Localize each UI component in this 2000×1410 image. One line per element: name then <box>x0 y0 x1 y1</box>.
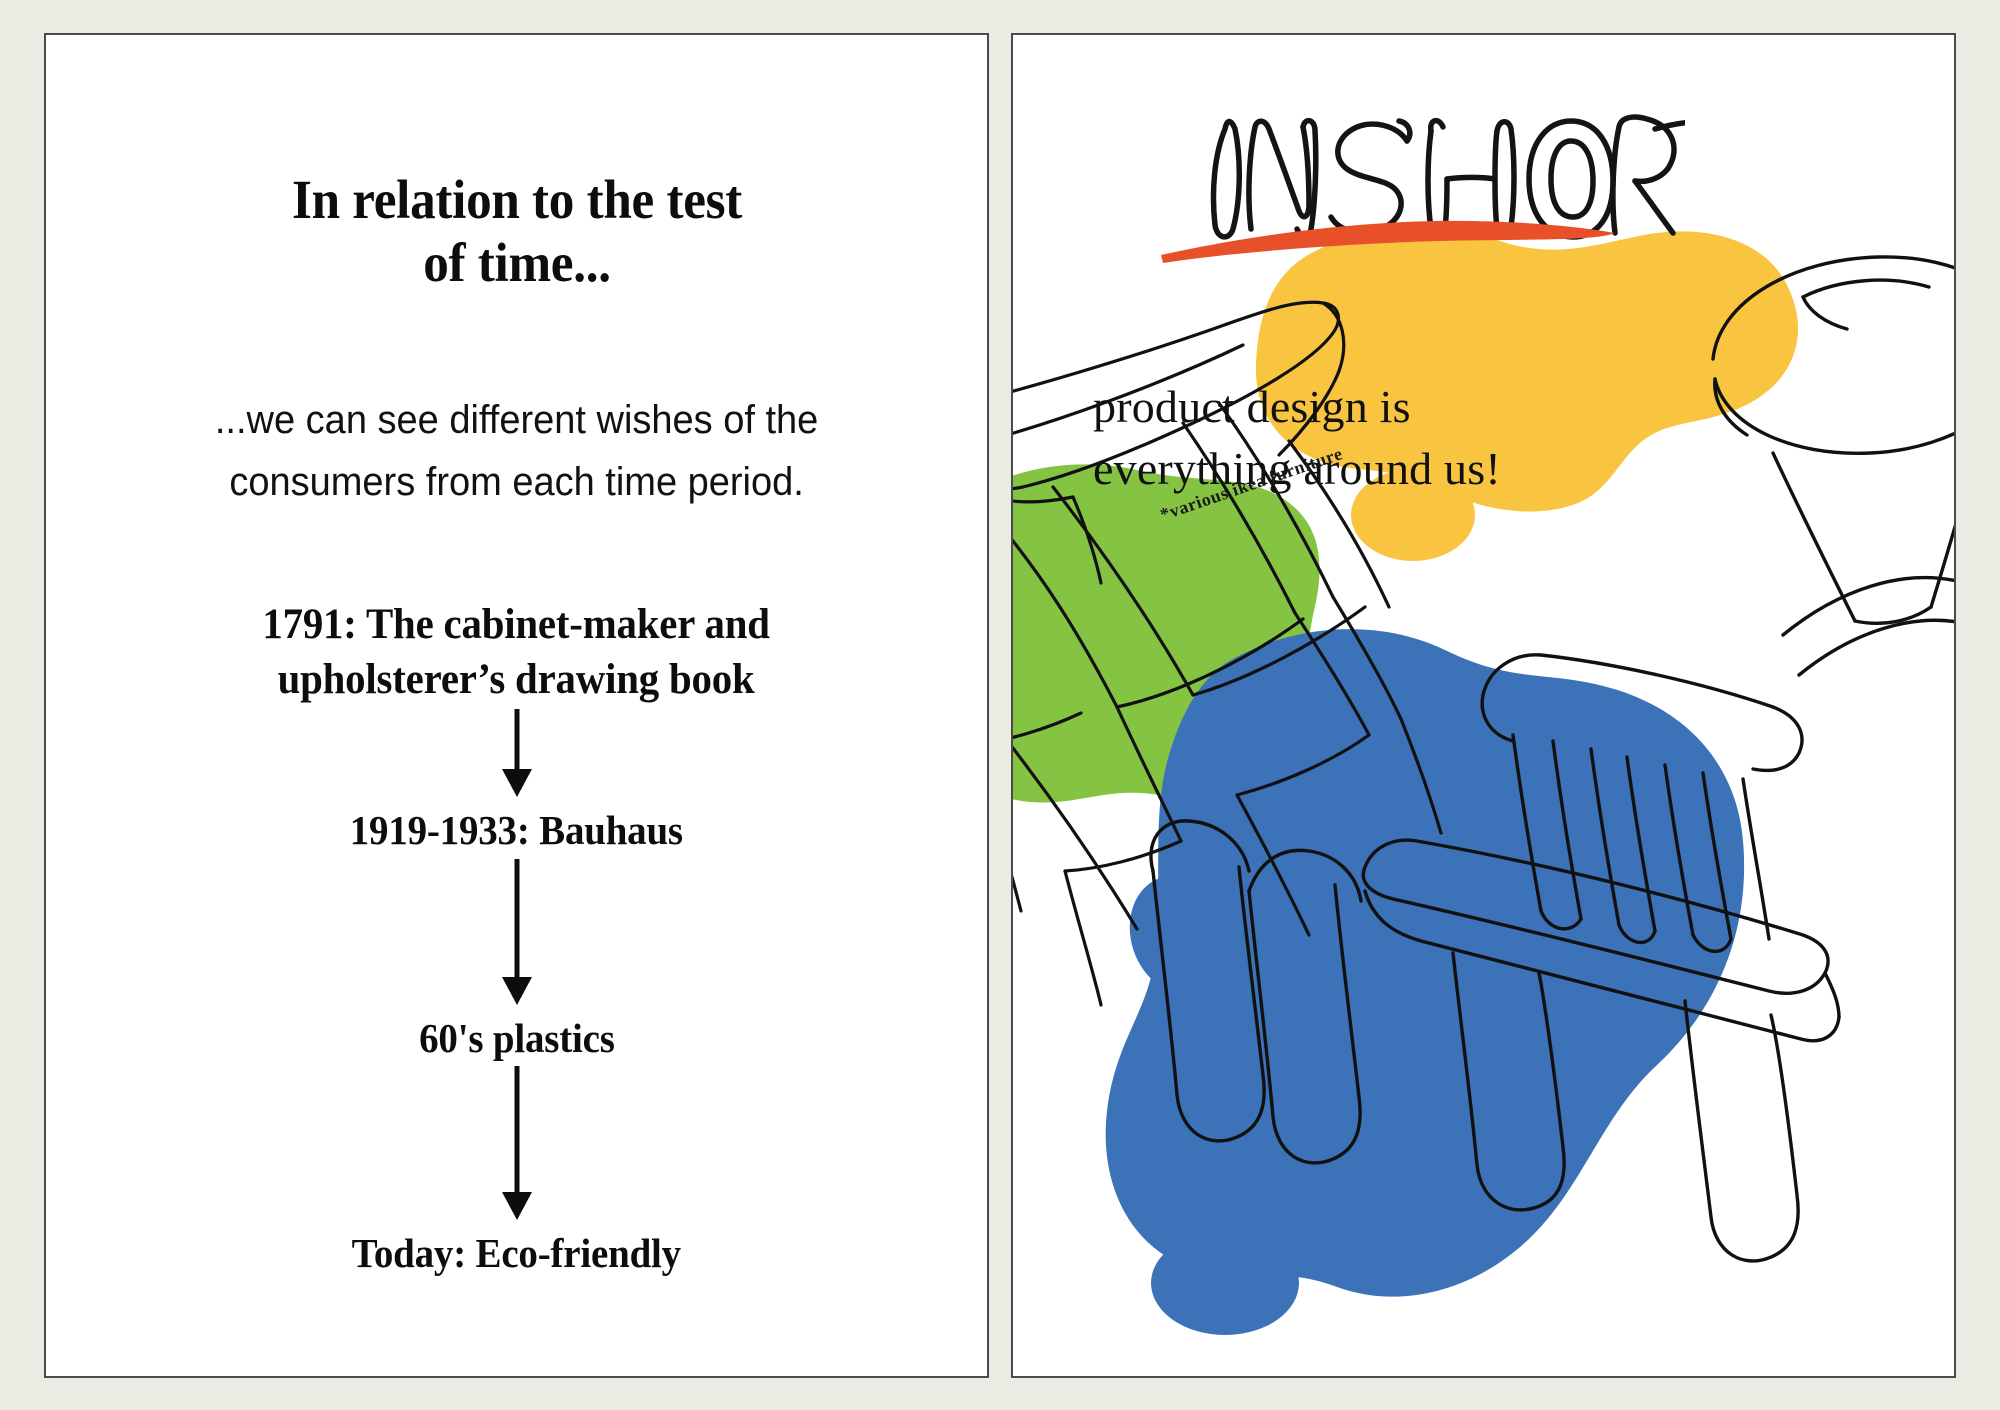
timeline-item-3: 60's plastics <box>419 1012 615 1064</box>
tagline-line-2: everything around us! <box>1093 438 1633 500</box>
lede-line-2: consumers from each time period. <box>215 451 818 513</box>
timeline-item-4: Today: Eco-friendly <box>352 1227 681 1279</box>
timeline-item-2: 1919-1933: Bauhaus <box>350 804 683 856</box>
down-arrow-icon-1 <box>497 707 537 804</box>
timeline-item-3-line-1: 60's plastics <box>419 1015 615 1061</box>
presentation-canvas: In relation to the test of time... ...we… <box>0 0 2000 1410</box>
blue-blob <box>1106 629 1744 1335</box>
lede-line-1: ...we can see different wishes of the <box>215 398 818 442</box>
down-arrow-icon-3 <box>497 1064 537 1227</box>
timeline-item-1-line-1: 1791: The cabinet-maker and <box>263 601 770 648</box>
timeline-item-4-line-1: Today: Eco-friendly <box>352 1230 681 1276</box>
timeline: 1791: The cabinet-maker and upholsterer’… <box>46 597 987 1279</box>
slide-left: In relation to the test of time... ...we… <box>44 33 989 1378</box>
down-arrow-icon-2 <box>497 857 537 1012</box>
timeline-item-1: 1791: The cabinet-maker and upholsterer’… <box>263 597 770 707</box>
timeline-item-1-line-2: upholsterer’s drawing book <box>263 652 770 707</box>
page-title-line-2: of time... <box>291 231 741 294</box>
slide-right: product design is everything around us! … <box>1011 33 1956 1378</box>
left-slide-content: In relation to the test of time... ...we… <box>46 35 987 1376</box>
right-slide-content: product design is everything around us! … <box>1013 35 1954 1376</box>
orange-underline-stroke <box>1153 207 1623 267</box>
timeline-item-2-line-1: 1919-1933: Bauhaus <box>350 807 683 853</box>
tagline: product design is everything around us! <box>1093 376 1633 500</box>
page-title-line-1: In relation to the test <box>291 169 741 230</box>
tagline-line-1: product design is <box>1093 381 1411 432</box>
page-title: In relation to the test of time... <box>291 168 741 295</box>
lede-paragraph: ...we can see different wishes of the co… <box>215 389 818 513</box>
